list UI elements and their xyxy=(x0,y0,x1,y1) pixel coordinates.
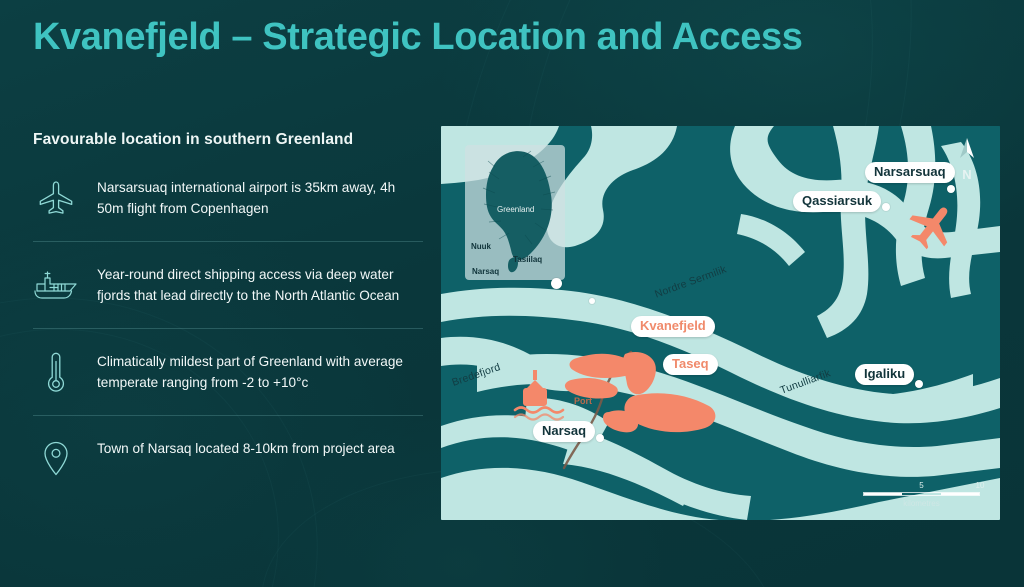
feature-item-airport: Narsarsuaq international airport is 35km… xyxy=(33,175,423,242)
section-heading: Favourable location in southern Greenlan… xyxy=(33,131,423,149)
map-panel[interactable]: Greenland Nuuk Tasiilaq Narsaq N Nordre … xyxy=(441,126,1000,520)
feature-item-shipping: Year-round direct shipping access via de… xyxy=(33,262,423,329)
map-geometry xyxy=(441,126,1000,520)
feature-text: Year-round direct shipping access via de… xyxy=(97,262,423,306)
map-pin-icon xyxy=(33,436,79,482)
feature-item-climate: Climatically mildest part of Greenland w… xyxy=(33,349,423,416)
feature-text: Climatically mildest part of Greenland w… xyxy=(97,349,423,393)
feature-text: Narsarsuaq international airport is 35km… xyxy=(97,175,423,219)
feature-text: Town of Narsaq located 8-10km from proje… xyxy=(97,436,395,459)
page-title: Kvanefjeld – Strategic Location and Acce… xyxy=(33,16,803,59)
cargo-ship-icon xyxy=(33,262,79,308)
slide-root: Kvanefjeld – Strategic Location and Acce… xyxy=(0,0,1024,587)
feature-item-town: Town of Narsaq located 8-10km from proje… xyxy=(33,436,423,502)
airplane-icon xyxy=(33,175,79,221)
thermometer-icon xyxy=(33,349,79,395)
left-content-column: Favourable location in southern Greenlan… xyxy=(33,131,423,522)
